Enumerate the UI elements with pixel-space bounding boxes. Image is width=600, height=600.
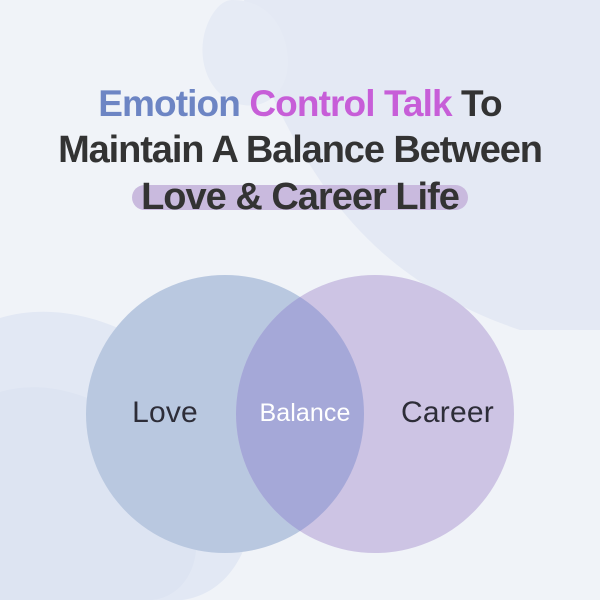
title-line-3-text: Love & Career Life [141, 176, 459, 218]
title-highlight-wrapper: Love & Career Life [141, 174, 459, 221]
venn-label-group: Love Balance Career [0, 258, 600, 568]
title-keyword-control-talk: Control Talk [249, 83, 451, 124]
title-line-3: Love & Career Life [0, 174, 600, 221]
venn-label-love: Love [100, 396, 230, 430]
title-word-to: To [461, 83, 502, 124]
venn-label-career: Career [375, 396, 520, 430]
title-line-1: Emotion Control Talk To [0, 80, 600, 127]
venn-label-balance: Balance [240, 399, 370, 428]
title-keyword-emotion: Emotion [98, 83, 240, 124]
title-line-2: Maintain A Balance Between [0, 127, 600, 174]
poster-canvas: Emotion Control Talk To Maintain A Balan… [0, 0, 600, 600]
page-title: Emotion Control Talk To Maintain A Balan… [0, 80, 600, 221]
